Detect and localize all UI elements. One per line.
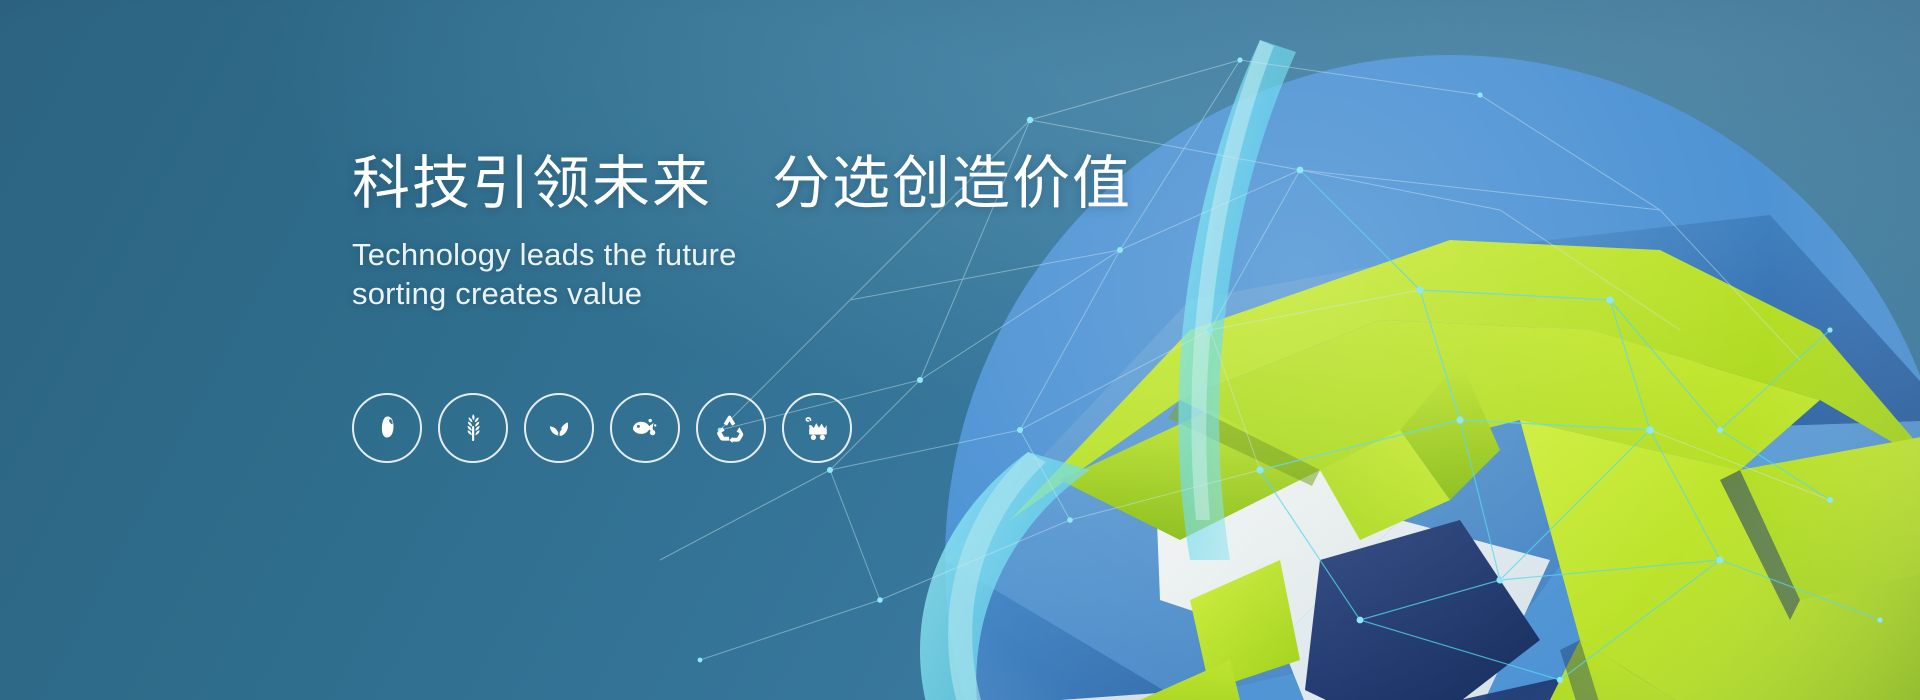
industry-icon-row [352, 393, 852, 463]
icon-circle-seed[interactable] [352, 393, 422, 463]
network-mesh-overlay [600, 0, 1920, 700]
mine-cart-icon [798, 411, 836, 445]
icon-circle-fish[interactable] [610, 393, 680, 463]
page-title: 科技引领未来 分选创造价值 [352, 150, 1172, 217]
icon-circle-mine-cart[interactable] [782, 393, 852, 463]
wheat-icon [455, 410, 491, 446]
icon-circle-wheat[interactable] [438, 393, 508, 463]
subtitle-line-2: sorting creates value [352, 274, 1172, 313]
fish-icon [626, 411, 664, 445]
hero-banner: 科技引领未来 分选创造价值 Technology leads the futur… [0, 0, 1920, 700]
subtitle: Technology leads the future sorting crea… [352, 235, 1172, 313]
subtitle-line-1: Technology leads the future [352, 235, 1172, 274]
seed-icon [370, 411, 404, 445]
recycle-icon [713, 410, 749, 446]
icon-circle-leaf[interactable] [524, 393, 594, 463]
icon-circle-recycle[interactable] [696, 393, 766, 463]
leaf-icon [541, 411, 577, 445]
copy-block: 科技引领未来 分选创造价值 Technology leads the futur… [352, 150, 1172, 313]
